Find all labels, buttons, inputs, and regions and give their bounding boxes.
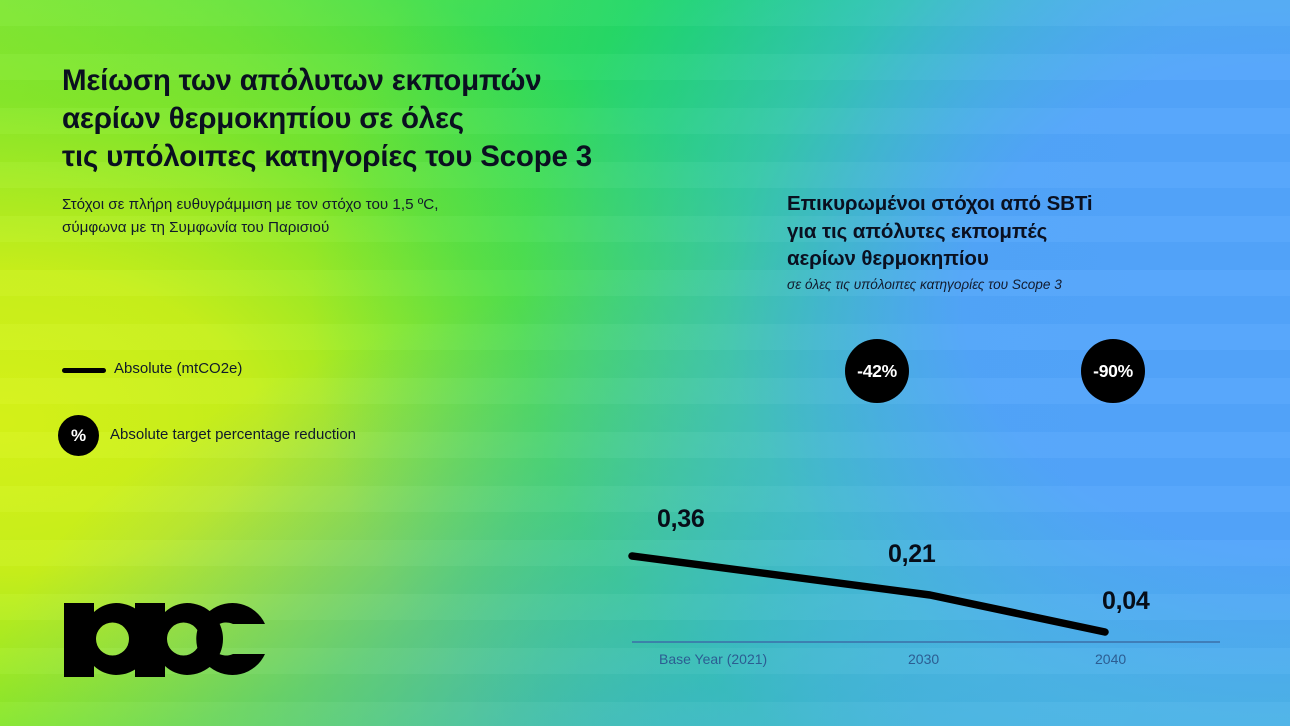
sbti-targets-heading-line-3: αερίων θερμοκηπίου: [787, 245, 1207, 273]
sbti-targets-heading: Επικυρωμένοι στόχοι από SBTi για τις από…: [787, 190, 1207, 273]
page-title-line-3: τις υπόλοιπες κατηγορίες του Scope 3: [62, 138, 702, 176]
line-swatch-icon: [62, 368, 106, 373]
chart-tick-2040: 2040: [1095, 651, 1126, 667]
chart-trend-line: [632, 556, 1105, 632]
legend-item-percent-reduction-label: Absolute target percentage reduction: [110, 426, 356, 443]
page-subtitle-line-1: Στόχοι σε πλήρη ευθυγράμμιση με τον στόχ…: [62, 193, 582, 216]
chart-tick-2030: 2030: [908, 651, 939, 667]
ppc-logo: [60, 567, 270, 677]
chart-value-2040: 0,04: [1102, 587, 1149, 616]
page-title-line-1: Μείωση των απόλυτων εκπομπών: [62, 62, 702, 100]
sbti-targets-subnote: σε όλες τις υπόλοιπες κατηγορίες του Sco…: [787, 277, 1217, 292]
page-title-line-2: αερίων θερμοκηπίου σε όλες: [62, 100, 702, 138]
sbti-targets-heading-line-2: για τις απόλυτες εκπομπές: [787, 218, 1207, 246]
page-title: Μείωση των απόλυτων εκπομπών αερίων θερμ…: [62, 62, 702, 176]
page-subtitle-line-2: σύμφωνα με τη Συμφωνία του Παρισιού: [62, 216, 582, 239]
sbti-targets-heading-line-1: Επικυρωμένοι στόχοι από SBTi: [787, 190, 1207, 218]
percent-badge-icon: %: [58, 415, 99, 456]
status-badge-reduction-2040: -90%: [1081, 339, 1145, 403]
chart-tick-base-year: Base Year (2021): [659, 651, 767, 667]
chart-value-2030: 0,21: [888, 540, 935, 569]
legend-item-absolute-label: Absolute (mtCO2e): [114, 360, 242, 377]
infographic-slide: Μείωση των απόλυτων εκπομπών αερίων θερμ…: [0, 0, 1290, 726]
chart-value-base-year: 0,36: [657, 505, 704, 534]
page-subtitle: Στόχοι σε πλήρη ευθυγράμμιση με τον στόχ…: [62, 193, 582, 239]
status-badge-reduction-2030: -42%: [845, 339, 909, 403]
